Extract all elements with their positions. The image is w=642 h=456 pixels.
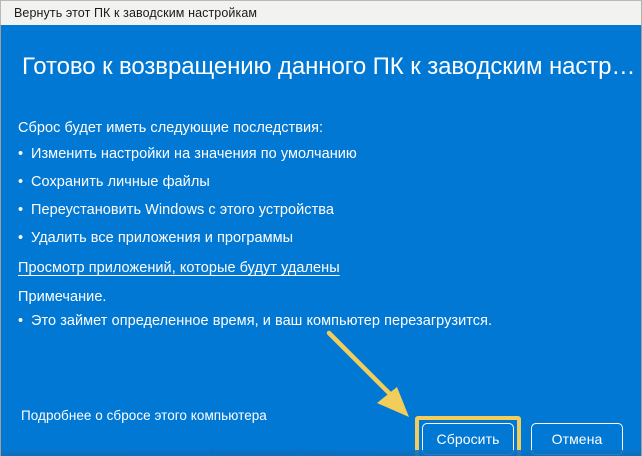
bullet-icon: • [18, 174, 23, 190]
bullet-icon: • [18, 313, 23, 329]
list-item: • Изменить настройки на значения по умол… [18, 146, 618, 162]
clipped-content-text: Переустановить Windows [211, 448, 334, 456]
note-list-item: • Это займет определенное время, и ваш к… [18, 313, 492, 329]
list-item-label: Изменить настройки на значения по умолча… [31, 146, 357, 162]
window-title: Вернуть этот ПК к заводским настройкам [14, 6, 257, 20]
titlebar: Вернуть этот ПК к заводским настройкам [0, 0, 642, 25]
note-list-item-label: Это займет определенное время, и ваш ком… [31, 313, 492, 329]
page-title: Готово к возвращению данного ПК к заводс… [22, 53, 632, 81]
list-item: • Сохранить личные файлы [18, 174, 618, 190]
lead-paragraph: Сброс будет иметь следующие последствия: [18, 120, 618, 136]
consequences-list: • Изменить настройки на значения по умол… [18, 146, 618, 246]
list-item: • Переустановить Windows с этого устройс… [18, 202, 618, 218]
note-heading: Примечание. [18, 289, 107, 305]
list-item-label: Переустановить Windows с этого устройств… [31, 202, 334, 218]
list-item: • Удалить все приложения и программы [18, 230, 618, 246]
learn-more-about-reset-link[interactable]: Подробнее о сбросе этого компьютера [21, 408, 267, 423]
view-apps-to-be-removed-link[interactable]: Просмотр приложений, которые будут удале… [18, 260, 340, 276]
reset-pc-dialog-window: Вернуть этот ПК к заводским настройкам Г… [0, 0, 642, 456]
bullet-icon: • [18, 202, 23, 218]
annotation-arrow-icon [321, 325, 431, 425]
clipped-content-strip: Переустановить Windows [1, 450, 642, 456]
dialog-content: Сброс будет иметь следующие последствия:… [18, 120, 618, 277]
bullet-icon: • [18, 230, 23, 246]
list-item-label: Сохранить личные файлы [31, 174, 210, 190]
bullet-icon: • [18, 146, 23, 162]
dialog-body: Готово к возвращению данного ПК к заводс… [0, 25, 642, 456]
list-item-label: Удалить все приложения и программы [31, 230, 293, 246]
